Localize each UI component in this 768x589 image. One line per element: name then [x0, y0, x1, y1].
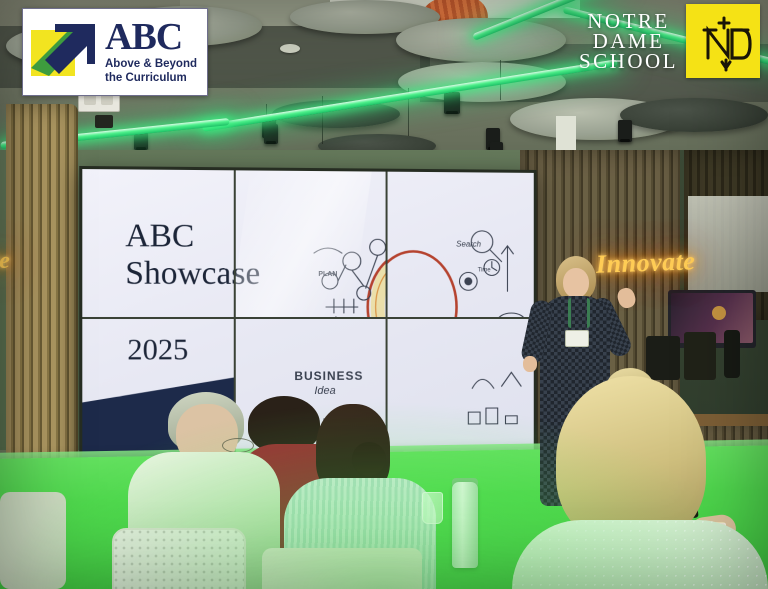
presenter-name-badge — [565, 330, 589, 347]
doodle-label-plan-top: PLAN — [318, 271, 337, 278]
neon-sign-left-partial: te — [0, 248, 10, 275]
white-mesh-chair — [112, 528, 246, 589]
slide-title: ABC Showcase — [125, 218, 234, 293]
baffle-hanger — [322, 96, 323, 144]
doodle-label-time: Time — [478, 267, 491, 273]
presenter-face — [563, 268, 589, 298]
abc-arrow-mark-icon — [29, 16, 101, 88]
white-mesh-chair — [262, 548, 422, 589]
glasses-icon — [222, 438, 254, 453]
spotlight — [618, 120, 632, 142]
desk-box — [684, 332, 716, 380]
presenter-left-hand — [523, 356, 537, 372]
drinking-glass — [422, 492, 443, 524]
abc-logo: ABC Above & Beyond the Curriculum — [22, 8, 208, 96]
video-wall-panel: ABC Showcase 2025 — [82, 169, 234, 317]
doodle-label-idea: Idea — [314, 385, 335, 397]
lightbulb-doodle-artwork — [387, 319, 534, 464]
chair — [0, 492, 66, 589]
lightbulb-doodle-artwork — [387, 189, 534, 317]
lightbulb-doodle-artwork — [286, 189, 385, 317]
wood-slat-column-left — [6, 104, 78, 504]
smoke-detector-icon — [280, 44, 300, 53]
video-wall-panel — [387, 319, 534, 464]
desk-bottle — [724, 330, 740, 378]
background-window — [688, 196, 768, 292]
audience-member-blonde — [512, 520, 768, 589]
notre-dame-logo: NOTRE DAME SCHOOL — [579, 4, 760, 78]
spotlight — [444, 92, 460, 114]
wall-sensor — [95, 115, 113, 128]
background-monitor-graphic — [712, 306, 726, 320]
video-wall-panel: Search Time — [387, 172, 534, 317]
spotlight — [264, 124, 278, 144]
presentation-photo: Innovate te ABC Showcase 2025 ABC — [0, 0, 768, 589]
notre-dame-monogram-icon — [686, 4, 760, 78]
audience-member-ponytail-bun — [352, 442, 386, 476]
abc-logo-title: ABC — [105, 18, 197, 56]
doodle-label-search: Search — [456, 240, 481, 249]
desk-box — [646, 336, 680, 380]
neon-sign-innovate: Innovate — [596, 246, 696, 279]
abc-logo-text: ABC Above & Beyond the Curriculum — [105, 18, 197, 85]
abc-logo-tagline: Above & Beyond the Curriculum — [105, 58, 197, 85]
water-bottle — [452, 482, 478, 568]
audience-member-blonde-hair — [556, 376, 706, 544]
video-wall-panel: ABC Showcase 2025 — [236, 170, 385, 317]
doodle-label-business: BUSINESS — [294, 369, 363, 383]
acoustic-baffle — [396, 18, 566, 62]
acoustic-baffle — [620, 98, 768, 132]
notre-dame-logo-text: NOTRE DAME SCHOOL — [579, 11, 678, 71]
presenter-lanyard — [568, 298, 590, 328]
slide-year: 2025 — [127, 333, 188, 367]
